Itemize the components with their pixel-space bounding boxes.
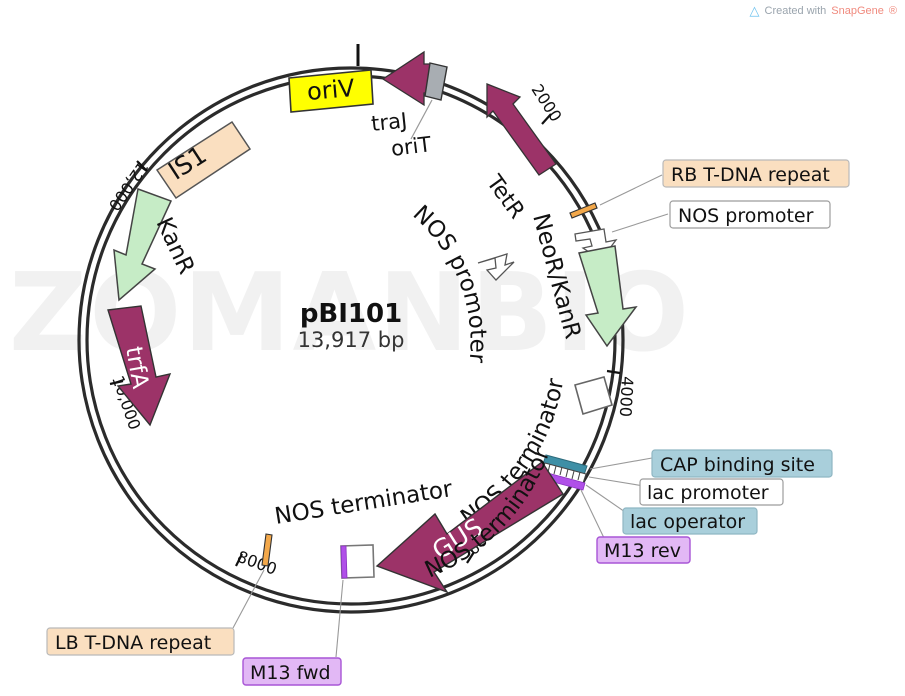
feature-label-NOS-promoter-right: NOS promoter	[678, 205, 814, 227]
m13-fwd-leader-line	[336, 580, 343, 657]
page-title: pBI101	[300, 299, 402, 329]
feature-label-TetR: TetR	[481, 170, 530, 224]
feature-label-oriV: oriV	[306, 74, 356, 106]
feature-label-traJ: traJ	[370, 108, 408, 136]
feature-label-RB-T-DNA-repeat: RB T-DNA repeat	[671, 164, 830, 186]
nos-promoter-leader-line	[612, 214, 668, 232]
feature-IS1[interactable]: IS1	[157, 122, 250, 198]
feature-label-LB-T-DNA-repeat: LB T-DNA repeat	[55, 632, 211, 654]
plasmid-map: ZOMANBIO 2000 4000 6000 8000 10,000 12,0…	[0, 0, 905, 696]
feature-label-CAP-binding-site: CAP binding site	[660, 454, 815, 476]
rb-leader-line	[600, 175, 662, 205]
callout-m13-rev[interactable]: M13 rev	[597, 537, 690, 563]
feature-M13-fwd-marker	[341, 546, 347, 578]
callout-lac-promoter[interactable]: lac promoter	[640, 479, 783, 505]
ruler-tick-8000: 8000	[235, 547, 280, 579]
feature-label-lac-operator: lac operator	[630, 511, 745, 533]
feature-label-M13-rev: M13 rev	[604, 540, 681, 562]
callout-lac-operator[interactable]: lac operator	[623, 508, 757, 534]
callout-cap-binding-site[interactable]: CAP binding site	[652, 450, 832, 477]
feature-label-M13-fwd: M13 fwd	[250, 662, 331, 684]
feature-oriV[interactable]: oriV	[289, 70, 373, 112]
feature-NOS-terminator-left[interactable]	[341, 545, 374, 578]
feature-traJ[interactable]: traJ	[370, 52, 430, 136]
ruler-tick-2000: 2000	[527, 81, 565, 125]
ruler-tick-4000: 4000	[616, 376, 637, 418]
feature-label-oriT: oriT	[390, 132, 433, 161]
feature-label-lac-promoter: lac promoter	[647, 482, 769, 504]
plasmid-size: 13,917 bp	[298, 328, 405, 352]
